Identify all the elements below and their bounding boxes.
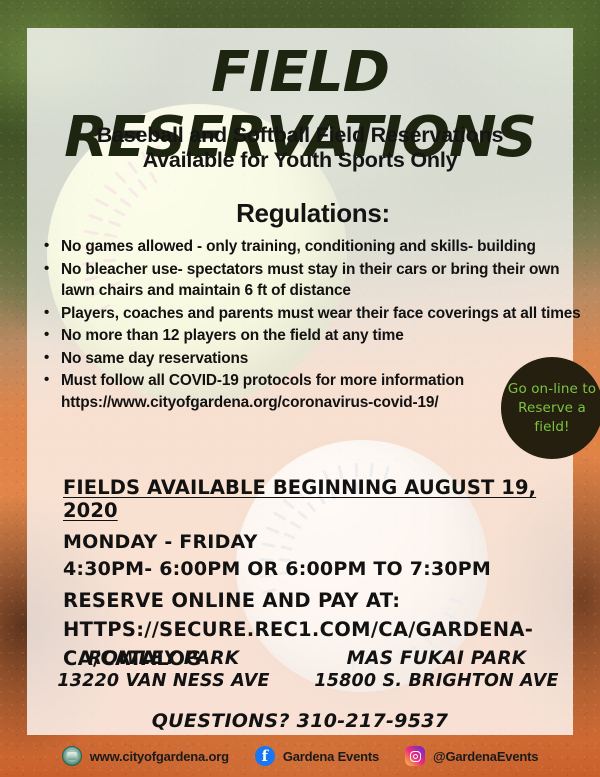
subtitle-line-2: Available for Youth Sports Only [27,148,573,173]
flyer-poster: FIELD RESERVATIONS Baseball and Softball… [0,0,600,777]
facebook-icon [255,746,275,766]
content-area: FIELD RESERVATIONS Baseball and Softball… [27,28,573,735]
badge-line-1: Go on-line to [508,381,596,397]
footer-website[interactable]: www.cityofgardena.org [62,746,229,766]
park-mas-fukai: MAS FUKAI PARK 15800 S. BRIGHTON AVE [300,648,573,691]
list-item: No bleacher use- spectators must stay in… [61,259,591,302]
park-name: ROWLEY PARK [27,648,300,669]
footer-bar: www.cityofgardena.org Gardena Events @Ga… [0,735,600,777]
badge-text: Go on-line to Reserve a field! [508,380,596,437]
schedule-times: 4:30PM- 6:00PM OR 6:00PM TO 7:30PM [63,556,563,583]
footer-instagram[interactable]: @GardenaEvents [405,746,538,766]
reserve-label: RESERVE ONLINE AND PAY AT: [63,586,583,615]
list-item: Players, coaches and parents must wear t… [61,303,591,325]
subtitle-line-1: Baseball and Softball Field Reservations [27,123,573,148]
park-address: 13220 VAN NESS AVE [27,671,300,691]
footer-facebook-label: Gardena Events [283,749,379,764]
schedule-headline: FIELDS AVAILABLE BEGINNING AUGUST 19, 20… [63,476,563,522]
list-item: No games allowed - only training, condit… [61,236,591,258]
footer-instagram-label: @GardenaEvents [433,749,538,764]
park-rowley: ROWLEY PARK 13220 VAN NESS AVE [27,648,300,691]
parks-row: ROWLEY PARK 13220 VAN NESS AVE MAS FUKAI… [27,648,573,691]
subtitle: Baseball and Softball Field Reservations… [27,123,573,173]
instagram-icon [405,746,425,766]
list-item: No more than 12 players on the field at … [61,325,591,347]
badge-line-3: field! [534,419,569,435]
schedule-days: MONDAY - FRIDAY [63,529,563,556]
park-address: 15800 S. BRIGHTON AVE [300,671,573,691]
footer-facebook[interactable]: Gardena Events [255,746,379,766]
questions-phone: QUESTIONS? 310-217-9537 [27,710,573,732]
park-name: MAS FUKAI PARK [300,648,573,669]
city-seal-icon [62,746,82,766]
go-online-badge[interactable]: Go on-line to Reserve a field! [501,357,600,459]
list-item: No same day reservations [61,348,591,370]
schedule-block: FIELDS AVAILABLE BEGINNING AUGUST 19, 20… [63,476,563,583]
footer-website-label: www.cityofgardena.org [90,749,229,764]
regulations-heading: Regulations: [27,198,573,229]
badge-line-2: Reserve a [518,400,586,416]
